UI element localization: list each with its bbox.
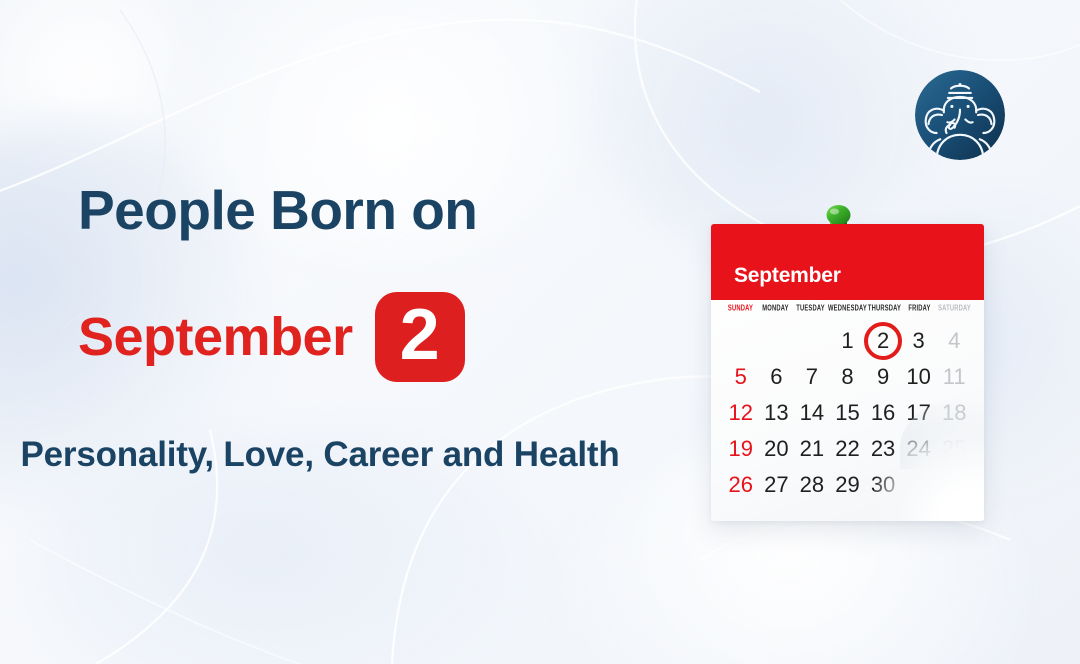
calendar-day-number: 2 [877, 328, 889, 353]
calendar-day-number: 28 [800, 472, 824, 497]
calendar-day-13[interactable]: 13 [759, 395, 795, 431]
calendar-day-number: 25 [942, 436, 966, 461]
calendar-day-14[interactable]: 14 [794, 395, 830, 431]
calendar-header: September [711, 224, 984, 300]
calendar-day-number: 30 [871, 472, 895, 497]
calendar-day-16[interactable]: 16 [865, 395, 901, 431]
calendar-day-number: 11 [943, 364, 966, 389]
calendar-day-18[interactable]: 18 [936, 395, 972, 431]
calendar-day-empty [723, 323, 759, 359]
calendar-month-label: September [711, 264, 841, 300]
calendar-widget[interactable]: September SUNDAYMONDAYTUESDAYWEDNESDAYTH… [711, 224, 984, 521]
calendar-day-number: 27 [764, 472, 788, 497]
page-title: People Born on [78, 182, 477, 240]
calendar-day-number: 17 [906, 400, 930, 425]
calendar-day-number: 18 [942, 400, 966, 425]
calendar-day-1[interactable]: 1 [830, 323, 866, 359]
calendar-day-grid[interactable]: 1234567891011121314151617181920212223242… [723, 323, 972, 503]
calendar-day-number: 26 [729, 472, 753, 497]
calendar-day-number: 3 [913, 328, 925, 353]
calendar-day-number: 1 [841, 328, 853, 353]
calendar-day-9[interactable]: 9 [865, 359, 901, 395]
calendar-day-28[interactable]: 28 [794, 467, 830, 503]
calendar-day-4[interactable]: 4 [936, 323, 972, 359]
calendar-day-number: 19 [729, 436, 753, 461]
calendar-day-empty [759, 323, 795, 359]
calendar-day-number: 24 [906, 436, 930, 461]
page-subtitle: Personality, Love, Career and Health [0, 428, 640, 482]
calendar-day-24[interactable]: 24 [901, 431, 937, 467]
calendar-day-21[interactable]: 21 [794, 431, 830, 467]
calendar-day-22[interactable]: 22 [830, 431, 866, 467]
calendar-day-29[interactable]: 29 [830, 467, 866, 503]
calendar-day-2[interactable]: 2 [865, 323, 901, 359]
calendar-day-19[interactable]: 19 [723, 431, 759, 467]
month-label: September [78, 310, 353, 364]
headline-column: People Born on September 2 Personality, … [0, 0, 640, 664]
calendar-day-20[interactable]: 20 [759, 431, 795, 467]
bg-blob-topright [590, 0, 970, 250]
calendar-day-5[interactable]: 5 [723, 359, 759, 395]
calendar-day-number: 6 [770, 364, 782, 389]
calendar-day-number: 10 [906, 364, 930, 389]
calendar-day-headers: SUNDAYMONDAYTUESDAYWEDNESDAYTHURSDAYFRID… [723, 308, 972, 323]
ganesha-logo[interactable] [915, 70, 1005, 160]
calendar-day-empty [901, 467, 937, 503]
calendar-day-25[interactable]: 25 [936, 431, 972, 467]
calendar-day-11[interactable]: 11 [936, 359, 972, 395]
calendar-day-23[interactable]: 23 [865, 431, 901, 467]
calendar-day-number: 5 [735, 364, 747, 389]
calendar-day-7[interactable]: 7 [794, 359, 830, 395]
calendar-day-number: 9 [877, 364, 889, 389]
calendar-day-26[interactable]: 26 [723, 467, 759, 503]
calendar-day-number: 7 [806, 364, 818, 389]
day-number-badge: 2 [375, 292, 465, 382]
calendar-day-27[interactable]: 27 [759, 467, 795, 503]
calendar-day-3[interactable]: 3 [901, 323, 937, 359]
calendar-day-number: 15 [835, 400, 859, 425]
calendar-day-number: 14 [800, 400, 824, 425]
poster-canvas: People Born on September 2 Personality, … [0, 0, 1080, 664]
calendar-day-17[interactable]: 17 [901, 395, 937, 431]
ganesha-logo-icon [915, 70, 1005, 160]
calendar-day-10[interactable]: 10 [901, 359, 937, 395]
calendar-day-number: 13 [764, 400, 788, 425]
calendar-day-15[interactable]: 15 [830, 395, 866, 431]
calendar-day-number: 21 [800, 436, 824, 461]
calendar-day-empty [936, 467, 972, 503]
calendar-day-8[interactable]: 8 [830, 359, 866, 395]
calendar-day-number: 22 [835, 436, 859, 461]
calendar-day-12[interactable]: 12 [723, 395, 759, 431]
calendar-body: SUNDAYMONDAYTUESDAYWEDNESDAYTHURSDAYFRID… [711, 300, 984, 521]
calendar-day-number: 8 [841, 364, 853, 389]
date-line: September 2 [78, 292, 465, 382]
calendar-day-number: 20 [764, 436, 788, 461]
calendar-day-number: 12 [729, 400, 753, 425]
calendar-day-number: 23 [871, 436, 895, 461]
calendar-day-number: 16 [871, 400, 895, 425]
calendar-day-number: 29 [835, 472, 859, 497]
calendar-day-empty [794, 323, 830, 359]
calendar-day-number: 4 [948, 328, 960, 353]
calendar-day-30[interactable]: 30 [865, 467, 901, 503]
calendar-day-6[interactable]: 6 [759, 359, 795, 395]
